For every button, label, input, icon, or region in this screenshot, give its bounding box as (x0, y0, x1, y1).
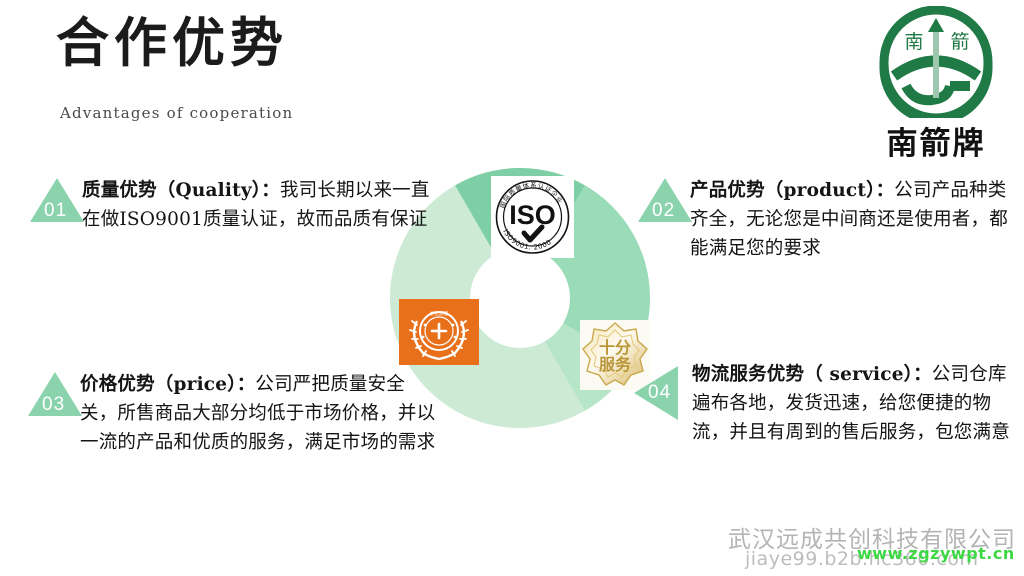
block-body-01: 质量优势（Quality）：我司长期以来一直在做ISO9001质量认证，故而品质… (82, 176, 430, 234)
advantage-block-01: 01 质量优势（Quality）：我司长期以来一直在做ISO9001质量认证，故… (30, 176, 430, 234)
iso-certificate-badge: ISO 国际质量体系认证企业 ISO9001: 2000 (491, 176, 574, 258)
block-number-04: 04 (648, 382, 671, 404)
iso-seal-icon: ISO 国际质量体系认证企业 ISO9001: 2000 (491, 176, 574, 258)
nanjian-emblem-icon: 南 箭 (872, 6, 1000, 118)
block-body-04: 物流服务优势（ service）：公司仓库遍布各地，发货迅速，给您便捷的物流，并… (692, 360, 1019, 448)
brand-logo: 南 箭 南箭牌 (866, 6, 1006, 164)
advantage-block-02: 02 产品优势（product）：公司产品种类齐全，无论您是中间商还是使用者，都… (638, 176, 1018, 264)
page-title: 合作优势 (56, 14, 288, 72)
quality-ring-text: 优化质量 (430, 310, 449, 317)
block-lead-02: 产品优势（product）： (690, 180, 894, 201)
quality-emblem-badge: 优化质量 (399, 299, 479, 365)
emblem-char-left: 南 (904, 31, 923, 53)
block-number-02: 02 (652, 200, 675, 222)
block-number-03: 03 (42, 394, 65, 416)
advantage-block-04: 04 物流服务优势（ service）：公司仓库遍布各地，发货迅速，给您便捷的物… (634, 360, 1019, 448)
advantage-block-03: 03 价格优势（price）：公司严把质量安全关，所售商品大部分均低于市场价格，… (28, 370, 438, 458)
emblem-char-right: 箭 (950, 31, 969, 53)
iso-main-text: ISO (509, 200, 556, 230)
wheat-wreath-icon: 优化质量 (399, 299, 479, 365)
block-lead-03: 价格优势（price）： (80, 374, 255, 395)
donut-center-hole (470, 248, 570, 348)
block-lead-04: 物流服务优势（ service）： (692, 364, 932, 385)
brand-name: 南箭牌 (866, 118, 1006, 163)
block-body-03: 价格优势（price）：公司严把质量安全关，所售商品大部分均低于市场价格，并以一… (80, 370, 438, 458)
page-subtitle: Advantages of cooperation (60, 104, 293, 122)
block-number-01: 01 (44, 200, 67, 222)
block-body-02: 产品优势（product）：公司产品种类齐全，无论您是中间商还是使用者，都能满足… (690, 176, 1018, 264)
block-lead-01: 质量优势（Quality）： (82, 180, 280, 201)
service-line-2: 服务 (599, 355, 632, 374)
watermark-site-url: www.zgzywpt.cn (857, 544, 1015, 563)
slide-canvas: 合作优势 Advantages of cooperation 南 箭 南箭牌 (0, 0, 1024, 576)
